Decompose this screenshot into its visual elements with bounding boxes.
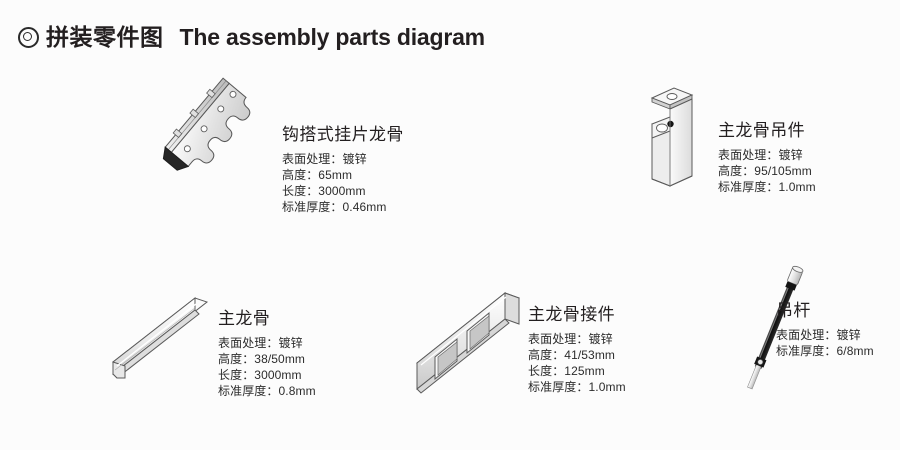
part-spec-thickness: 标准厚度：0.8mm	[218, 383, 316, 399]
part-image-main-keel-connector	[405, 285, 530, 395]
part-spec-height: 高度：38/50mm	[218, 351, 316, 367]
part-label-main-keel-hanger: 主龙骨吊件 表面处理：镀锌 高度：95/105mm 标准厚度：1.0mm	[718, 122, 816, 195]
part-spec-length: 长度：3000mm	[282, 183, 404, 199]
part-image-hook-hanging-keel	[160, 82, 290, 217]
part-image-main-keel	[95, 288, 220, 393]
part-spec-surface: 表面处理：镀锌	[776, 327, 874, 343]
part-spec-thickness: 标准厚度：1.0mm	[528, 379, 626, 395]
part-image-main-keel-hanger	[648, 84, 718, 196]
part-spec-thickness: 标准厚度：1.0mm	[718, 179, 816, 195]
assembly-parts-diagram-page: 拼装零件图 The assembly parts diagram	[0, 0, 900, 450]
part-spec-thickness: 标准厚度：6/8mm	[776, 343, 874, 359]
part-label-suspension-rod: 吊杆 表面处理：镀锌 标准厚度：6/8mm	[776, 302, 874, 359]
part-spec-thickness: 标准厚度：0.46mm	[282, 199, 404, 215]
part-name: 主龙骨接件	[528, 306, 626, 325]
part-label-hook-hanging-keel: 钩搭式挂片龙骨 表面处理：镀锌 高度：65mm 长度：3000mm 标准厚度：0…	[282, 126, 404, 215]
part-label-main-keel: 主龙骨 表面处理：镀锌 高度：38/50mm 长度：3000mm 标准厚度：0.…	[218, 310, 316, 399]
part-name: 钩搭式挂片龙骨	[282, 126, 404, 145]
part-spec-height: 高度：41/53mm	[528, 347, 626, 363]
part-spec-length: 长度：125mm	[528, 363, 626, 379]
page-header: 拼装零件图 The assembly parts diagram	[18, 26, 485, 49]
part-spec-height: 高度：65mm	[282, 167, 404, 183]
part-label-main-keel-connector: 主龙骨接件 表面处理：镀锌 高度：41/53mm 长度：125mm 标准厚度：1…	[528, 306, 626, 395]
part-spec-surface: 表面处理：镀锌	[718, 147, 816, 163]
part-spec-surface: 表面处理：镀锌	[528, 331, 626, 347]
page-title-en: The assembly parts diagram	[180, 26, 485, 49]
part-name: 吊杆	[776, 302, 874, 321]
part-name: 主龙骨吊件	[718, 122, 816, 141]
page-title-cn: 拼装零件图	[46, 26, 164, 49]
double-circle-icon	[18, 27, 39, 48]
part-name: 主龙骨	[218, 310, 316, 329]
part-spec-surface: 表面处理：镀锌	[282, 151, 404, 167]
part-spec-height: 高度：95/105mm	[718, 163, 816, 179]
part-spec-length: 长度：3000mm	[218, 367, 316, 383]
part-spec-surface: 表面处理：镀锌	[218, 335, 316, 351]
